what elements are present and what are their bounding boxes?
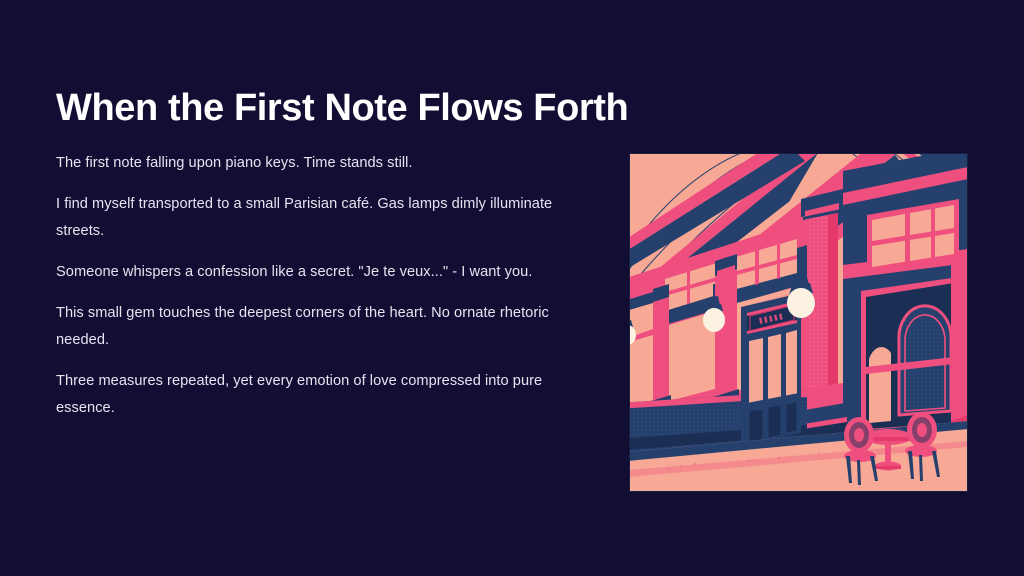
body-paragraph: Three measures repeated, yet every emoti… [56,368,601,422]
body-paragraph: Someone whispers a confession like a sec… [56,259,601,286]
body-paragraph: The first note falling upon piano keys. … [56,150,601,177]
arcade-illustration-svg [629,153,968,492]
page-title: When the First Note Flows Forth [56,87,816,131]
body-text-column: The first note falling upon piano keys. … [56,150,601,422]
center-shop [741,293,801,445]
arched-bay [861,277,959,435]
shop-doors [747,330,799,442]
slide-canvas: When the First Note Flows Forth The firs… [0,0,1024,576]
arcade-illustration [629,153,968,492]
body-paragraph: I find myself transported to a small Par… [56,191,601,245]
body-paragraph: This small gem touches the deepest corne… [56,300,601,354]
